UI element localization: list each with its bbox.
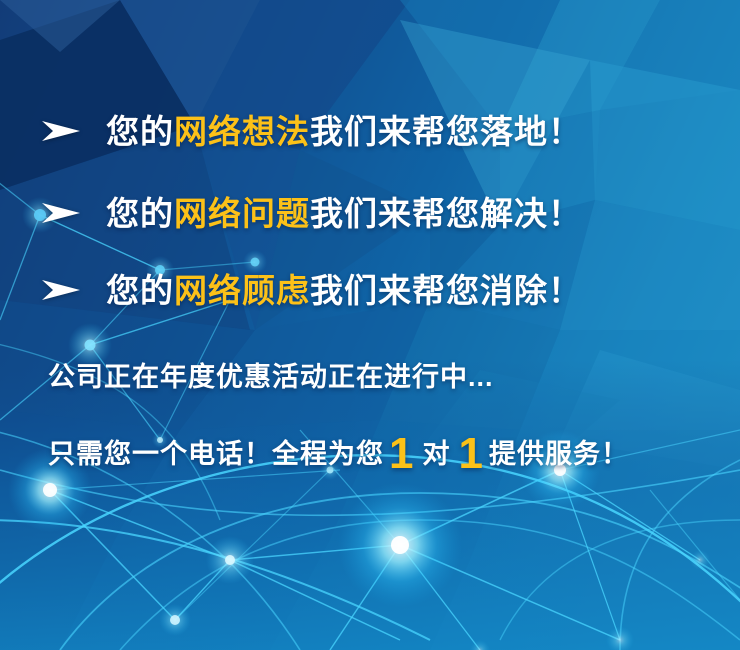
promo-line-1-text: 公司正在年度优惠活动正在进行中... — [48, 362, 494, 392]
claim-row: 您的网络顾虑我们来帮您消除！ — [40, 265, 582, 315]
banner-content: 您的网络想法我们来帮您落地！ 您的网络问题我们来帮您解决！ 您的网络顾虑我们来帮… — [0, 0, 740, 650]
claim-text: 您的网络顾虑我们来帮您消除！ — [106, 274, 582, 307]
claim-suffix: 我们来帮您落地！ — [310, 113, 582, 150]
promo-line-1: 公司正在年度优惠活动正在进行中... — [48, 364, 494, 391]
claim-suffix: 我们来帮您消除！ — [310, 272, 582, 309]
claim-text: 您的网络想法我们来帮您落地！ — [106, 115, 582, 148]
claim-prefix: 您的 — [106, 272, 174, 309]
claim-prefix: 您的 — [106, 195, 174, 232]
claim-row: 您的网络问题我们来帮您解决！ — [40, 188, 582, 238]
promo-line-2-mid: 对 — [419, 439, 453, 469]
claim-text: 您的网络问题我们来帮您解决！ — [106, 197, 582, 230]
claim-highlight: 网络顾虑 — [174, 272, 310, 309]
arrow-right-icon — [40, 118, 82, 144]
claim-suffix: 我们来帮您解决！ — [310, 195, 582, 232]
promo-line-2-part2: 提供服务！ — [489, 439, 629, 469]
claim-highlight: 网络问题 — [174, 195, 310, 232]
claim-highlight: 网络想法 — [174, 113, 310, 150]
arrow-right-icon — [40, 277, 82, 303]
arrow-right-icon — [40, 200, 82, 226]
promo-number-second: 1 — [453, 429, 488, 478]
promo-number-first: 1 — [384, 429, 419, 478]
promo-line-2-part1: 只需您一个电话！全程为您 — [48, 439, 384, 469]
promo-banner: 您的网络想法我们来帮您落地！ 您的网络问题我们来帮您解决！ 您的网络顾虑我们来帮… — [0, 0, 740, 650]
claim-row: 您的网络想法我们来帮您落地！ — [40, 106, 582, 156]
claim-prefix: 您的 — [106, 113, 174, 150]
promo-line-2: 只需您一个电话！全程为您1对1提供服务！ — [48, 432, 629, 476]
